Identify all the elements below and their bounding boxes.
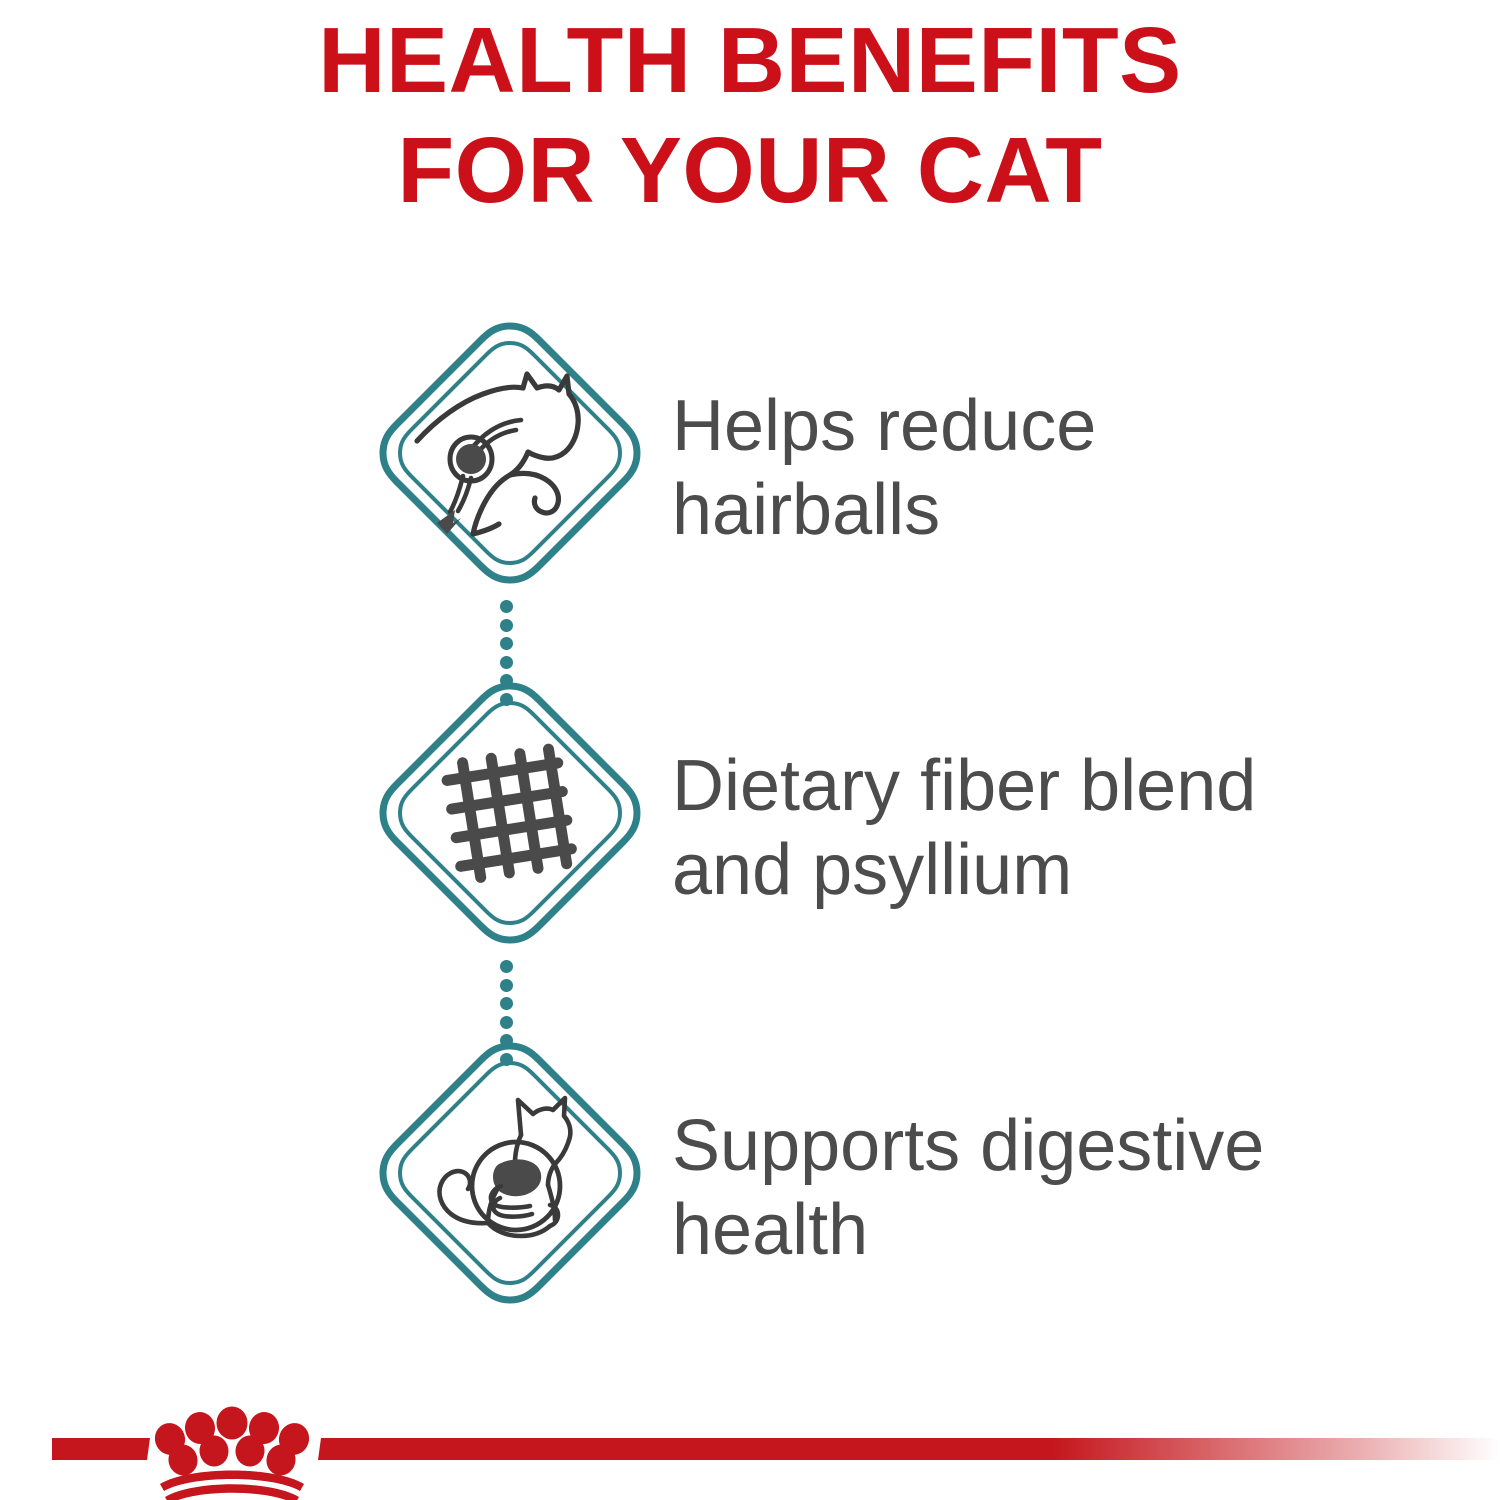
benefit-label-line-2: health <box>672 1188 1462 1272</box>
benefit-label-line-1: Dietary fiber blend <box>672 744 1462 828</box>
connector-dot <box>500 637 513 650</box>
fiber-mesh-icon <box>375 678 645 948</box>
benefit-label-line-2: and psyllium <box>672 828 1462 912</box>
connector-dots-1 <box>498 600 514 706</box>
benefit-item-digestive: Supports digestive health <box>0 1038 1500 1338</box>
connector-dots-2 <box>498 960 514 1066</box>
health-benefits-panel: HEALTH BENEFITS FOR YOUR CAT <box>0 0 1500 1500</box>
connector-dot <box>500 1034 513 1047</box>
benefit-item-hairballs: Helps reduce hairballs <box>0 318 1500 618</box>
benefit-label-fiber: Dietary fiber blend and psyllium <box>672 744 1462 912</box>
connector-dot <box>500 979 513 992</box>
connector-dot <box>500 693 513 706</box>
page-title: HEALTH BENEFITS FOR YOUR CAT <box>0 6 1500 225</box>
footer-brand-band <box>0 1380 1500 1500</box>
footer-rule-right <box>318 1438 1500 1460</box>
connector-dot <box>500 1053 513 1066</box>
footer-rule-left <box>52 1438 150 1460</box>
connector-dot <box>500 960 513 973</box>
page-title-line-2: FOR YOUR CAT <box>0 116 1500 226</box>
page-title-line-1: HEALTH BENEFITS <box>0 6 1500 116</box>
benefit-label-line-2: hairballs <box>672 468 1462 552</box>
benefit-item-fiber: Dietary fiber blend and psyllium <box>0 678 1500 978</box>
benefit-label-line-1: Helps reduce <box>672 384 1462 468</box>
benefits-list: Helps reduce hairballs <box>0 318 1500 1338</box>
connector-dot <box>500 656 513 669</box>
connector-dot <box>500 619 513 632</box>
cat-digestion-icon <box>375 1038 645 1308</box>
benefit-label-line-1: Supports digestive <box>672 1104 1462 1188</box>
connector-dot <box>500 600 513 613</box>
connector-dot <box>500 997 513 1010</box>
connector-dot <box>500 1016 513 1029</box>
benefit-label-hairballs: Helps reduce hairballs <box>672 384 1462 552</box>
royal-canin-crown-logo <box>151 1407 313 1500</box>
cat-hairball-icon <box>375 318 645 588</box>
benefit-label-digestive: Supports digestive health <box>672 1104 1462 1272</box>
connector-dot <box>500 674 513 687</box>
